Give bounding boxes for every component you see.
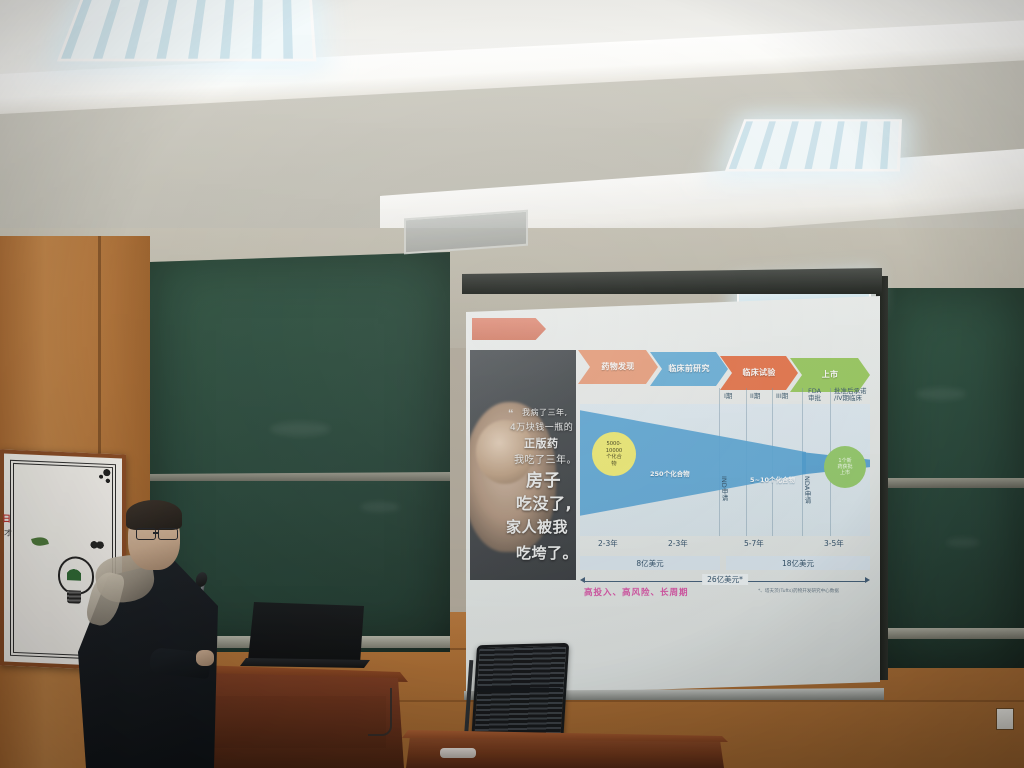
chalkboard-right-ledge	[886, 478, 1024, 488]
poster-title: 日	[2, 511, 11, 524]
quote-open-mark: “	[508, 408, 514, 420]
poster-flourish-icon	[86, 467, 112, 492]
chalkboard-right-tray	[886, 628, 1024, 639]
projection-screen: “ 我病了三年, 4万块钱一瓶的 正版药 我吃了三年。 房子 吃没了, 家人被我…	[466, 296, 880, 696]
presenter-hand	[196, 650, 214, 666]
presenter-hair	[126, 500, 182, 530]
quote-line-6: 吃没了,	[516, 490, 572, 514]
lecture-hall-photo: “ 我病了三年, 4万块钱一瓶的 正版药 我吃了三年。 房子 吃没了, 家人被我…	[0, 0, 1024, 768]
duration-row: 2-3年 2-3年 5-7年 3-5年	[580, 536, 870, 553]
duration-market: 3-5年	[824, 538, 844, 549]
stage-chevron-clinical: 临床试验	[720, 356, 798, 390]
stage-chevron-discovery: 药物发现	[578, 350, 658, 384]
drug-development-diagram: 药物发现 临床前研究 临床试验 上市 I期 II期 III期 FDA 审批 批准…	[578, 350, 872, 580]
compound-count-clinical: 5~10个化合物	[750, 474, 795, 484]
glasses-bridge-icon	[153, 532, 159, 534]
arrow-right-icon	[865, 577, 870, 583]
cost-bar-second-half: 18亿美元	[726, 556, 870, 570]
phase-label-i: I期	[724, 390, 732, 400]
quote-line-2: 4万块钱一瓶的	[510, 420, 573, 433]
quote-line-1: 我病了三年,	[522, 407, 568, 418]
chair-backrest-divider	[476, 688, 560, 692]
glasses-left-lens-icon	[136, 528, 156, 540]
milestone-nda: NDA申请	[802, 476, 812, 503]
slide-title-banner	[472, 318, 546, 340]
podium-cable	[368, 688, 392, 736]
compound-count-bubble-end: 1个新 药获批 上市	[824, 446, 866, 488]
laptop	[248, 602, 364, 664]
phase-label-iii: III期	[776, 390, 788, 400]
milestone-ind: IND申请	[719, 476, 729, 501]
slide: “ 我病了三年, 4万块钱一瓶的 正版药 我吃了三年。 房子 吃没了, 家人被我…	[466, 296, 880, 696]
quote-photo-panel: “ 我病了三年, 4万块钱一瓶的 正版药 我吃了三年。 房子 吃没了, 家人被我…	[470, 350, 576, 580]
quote-line-5: 房子	[526, 466, 561, 491]
quote-line-4: 我吃了三年。	[514, 451, 576, 466]
total-cost-label: 26亿美元*	[702, 574, 748, 585]
glasses-right-lens-icon	[158, 528, 178, 540]
duration-preclinical: 2-3年	[668, 538, 688, 549]
desk-items	[440, 748, 476, 758]
quote-line-3: 正版药	[524, 435, 559, 451]
duration-clinical: 5-7年	[744, 538, 764, 549]
grid-light-panel-right-icon	[725, 119, 902, 171]
duration-discovery: 2-3年	[598, 538, 618, 549]
quote-line-8: 吃垮了。	[516, 542, 576, 563]
quote-line-7: 家人被我	[506, 516, 568, 537]
wall-switch-plate[interactable]	[996, 708, 1014, 730]
poster-subtitle: 才	[4, 528, 12, 539]
phase-label-ii: II期	[750, 390, 760, 400]
compound-count-preclinical: 250个化合物	[650, 468, 690, 478]
approval-label-post: 批准后承诺 /IV期临床	[834, 388, 867, 403]
slide-tagline: 高投入、高风险、长周期	[584, 586, 689, 598]
approval-label-fda: FDA 审批	[808, 388, 821, 403]
compound-count-bubble-start: 5000- 10000 个化合 物	[592, 432, 636, 476]
stage-chevron-preclinical: 临床前研究	[650, 352, 728, 386]
arrow-left-icon	[580, 577, 585, 583]
slide-footnote: *、塔夫茨(Tufts)药物开发研究中心数据	[758, 588, 839, 594]
butterfly-icon	[90, 539, 104, 551]
grid-light-panel-left-icon	[57, 0, 317, 61]
cost-bar-first-half: 8亿美元	[580, 556, 720, 570]
